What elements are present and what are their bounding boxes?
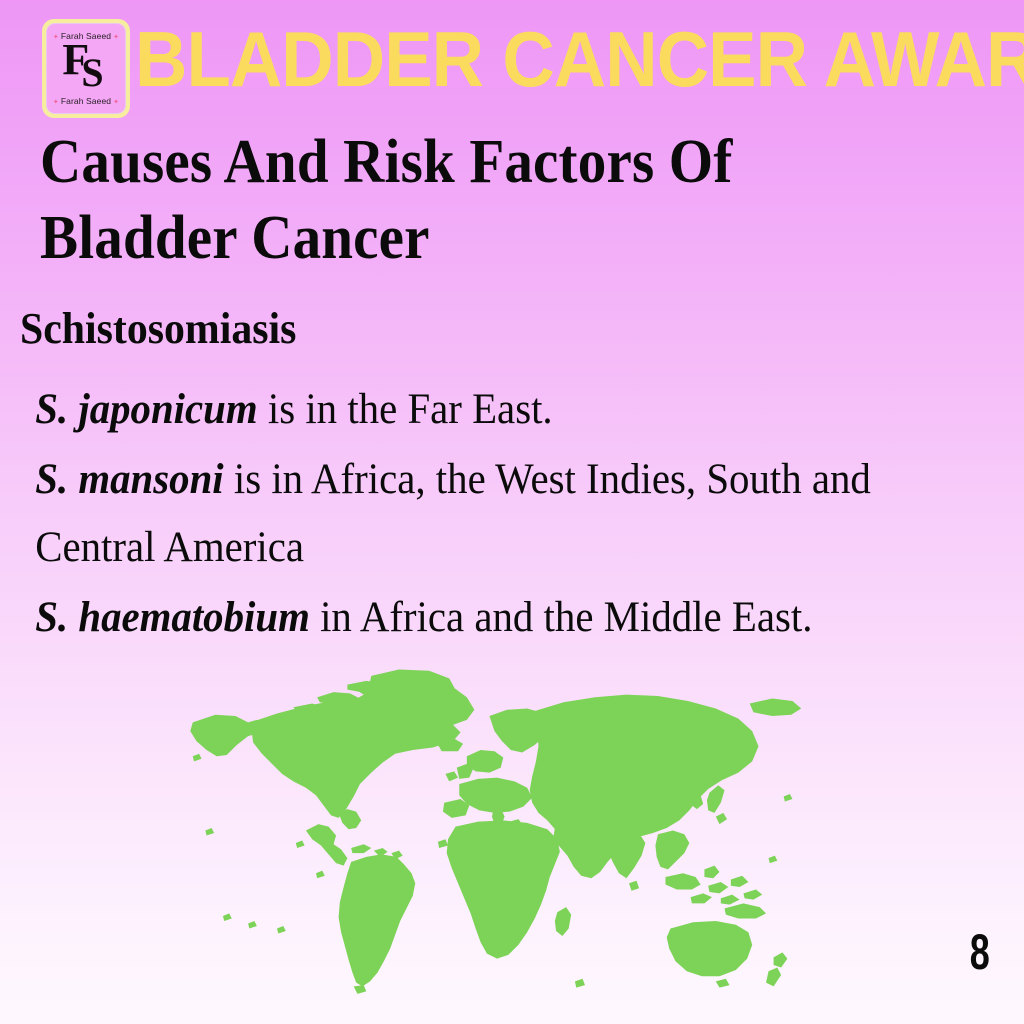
world-map-svg	[182, 662, 812, 1014]
brand-logo-inner: ✦Farah Saeed✦ FS ✦Farah Saeed✦	[46, 23, 126, 114]
brand-logo-badge: ✦Farah Saeed✦ FS ✦Farah Saeed✦	[42, 19, 130, 118]
section-heading: Schistosomiasis	[20, 300, 961, 358]
diamond-ornament-icon: ✦	[111, 34, 121, 41]
page-title: Causes And Risk Factors Of Bladder Cance…	[40, 124, 896, 276]
fact-line: S. mansoni is in Africa, the West Indies…	[20, 446, 961, 582]
slide-canvas: ✦Farah Saeed✦ FS ✦Farah Saeed✦ BLADDER C…	[0, 0, 1024, 1024]
banner-title: BLADDER CANCER AWARENESS	[135, 16, 953, 102]
diamond-ornament-icon: ✦	[51, 34, 61, 41]
logo-bottom-label: Farah Saeed	[61, 96, 111, 106]
page-number: 8	[970, 927, 990, 977]
logo-bottom-text-row: ✦Farah Saeed✦	[47, 96, 125, 106]
fact-line: S. haematobium in Africa and the Middle …	[20, 584, 961, 652]
fact-line: S. japonicum is in the Far East.	[20, 376, 961, 444]
species-name: S. mansoni	[35, 456, 223, 503]
fact-text: in Africa and the Middle East.	[310, 594, 813, 641]
logo-monogram-letter-s: S	[81, 50, 103, 95]
header-bar: ✦Farah Saeed✦ FS ✦Farah Saeed✦ BLADDER C…	[0, 0, 1024, 120]
logo-monogram: FS	[47, 41, 125, 99]
world-map-illustration	[182, 662, 812, 1014]
fact-text: is in the Far East.	[258, 386, 553, 433]
species-name: S. haematobium	[35, 594, 310, 641]
world-map-landmasses	[190, 670, 801, 994]
species-name: S. japonicum	[35, 386, 257, 433]
diamond-ornament-icon: ✦	[111, 99, 121, 106]
content-block: Schistosomiasis S. japonicum is in the F…	[20, 300, 1010, 654]
diamond-ornament-icon: ✦	[51, 99, 61, 106]
